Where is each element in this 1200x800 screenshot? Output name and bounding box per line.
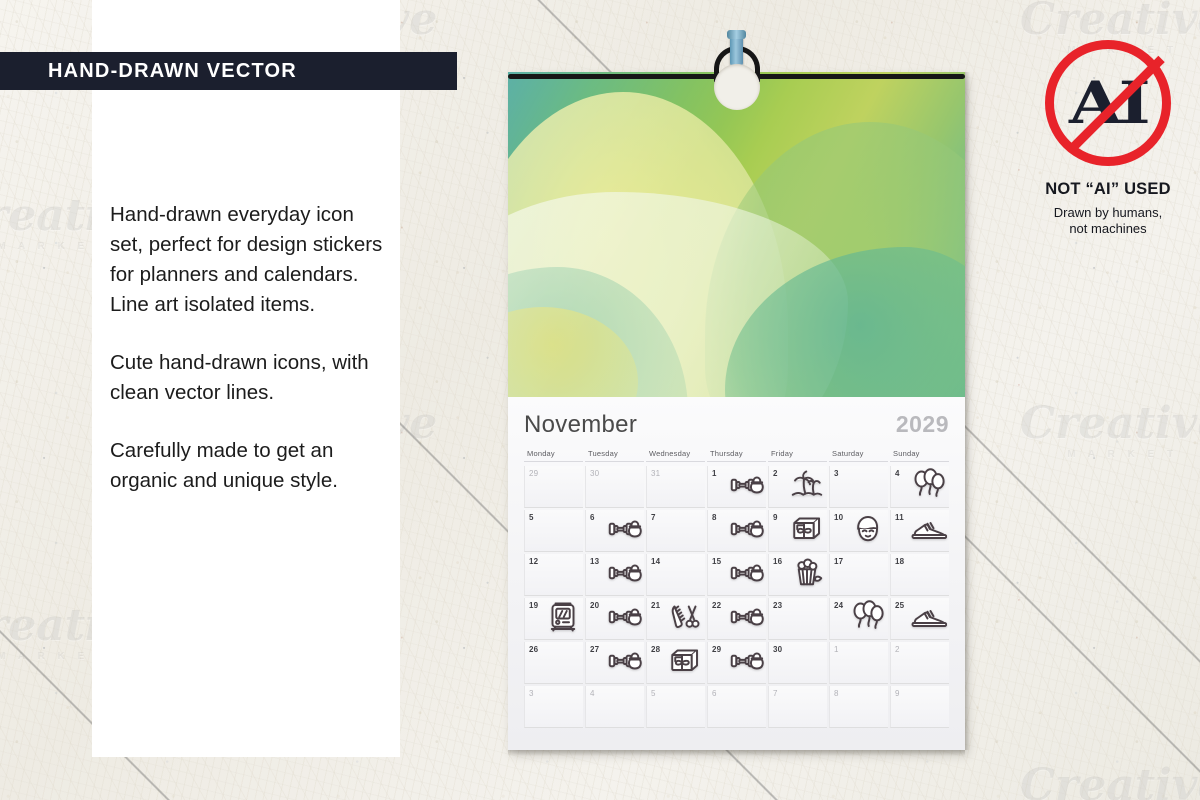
calendar-day-cell[interactable]: 4 [585,686,644,728]
weekday-header-friday: Friday [768,449,827,462]
calendar-day-cell[interactable]: 28 [646,642,705,684]
calendar-day-cell[interactable]: 29 [707,642,766,684]
no-ai-title: NOT “AI” USED [1028,180,1188,199]
calendar-day-cell[interactable]: 6 [585,510,644,552]
day-number: 12 [529,557,538,566]
hand-drawn-vector-banner: HAND-DRAWN VECTOR [0,52,457,90]
balloons-icon [911,468,947,502]
calendar-day-cell[interactable]: 22 [707,598,766,640]
day-number: 3 [834,469,839,478]
day-number: 31 [651,469,660,478]
day-number: 28 [651,645,660,654]
calendar-day-cell[interactable]: 11 [890,510,949,552]
comb-scissors-icon [667,600,703,634]
calendar-day-cell[interactable]: 24 [829,598,888,640]
day-number: 19 [529,601,538,610]
day-number: 25 [895,601,904,610]
wall-calendar: November 2029 MondayTuesdayWednesdayThur… [508,72,965,750]
day-number: 5 [651,689,656,698]
calendar-day-cell[interactable]: 8 [829,686,888,728]
calendar-day-cell[interactable]: 8 [707,510,766,552]
calendar-cover-art [508,72,965,397]
weekday-header-thursday: Thursday [707,449,766,462]
calendar-day-cell[interactable]: 1 [707,466,766,508]
day-number: 22 [712,601,721,610]
day-number: 14 [651,557,660,566]
day-number: 4 [590,689,595,698]
dumbbell-kettlebell-icon [606,512,642,546]
day-number: 20 [590,601,599,610]
day-number: 2 [773,469,778,478]
palm-island-icon [789,468,825,502]
calendar-bottom-shadow [508,750,965,756]
calendar-title-row: November 2029 [524,411,949,439]
calendar-day-cell[interactable]: 9 [768,510,827,552]
balloons-icon [850,600,886,634]
calendar-day-cell[interactable]: 18 [890,554,949,596]
tram-icon [545,600,581,634]
description-paragraph-3: Carefully made to get an organic and uni… [110,436,390,496]
calendar-day-cell[interactable]: 7 [646,510,705,552]
day-number: 2 [895,645,900,654]
calendar-day-cell[interactable]: 30 [585,466,644,508]
weekday-header-wednesday: Wednesday [646,449,705,462]
day-number: 26 [529,645,538,654]
day-number: 23 [773,601,782,610]
calendar-day-cell[interactable]: 15 [707,554,766,596]
day-number: 4 [895,469,900,478]
day-number: 7 [773,689,778,698]
dumbbell-kettlebell-icon [606,600,642,634]
calendar-day-cell[interactable]: 3 [829,466,888,508]
day-number: 6 [712,689,717,698]
weekday-header-sunday: Sunday [890,449,949,462]
calendar-day-cell[interactable]: 5 [524,510,583,552]
calendar-day-cell[interactable]: 6 [707,686,766,728]
dumbbell-kettlebell-icon [728,468,764,502]
weekday-header-monday: Monday [524,449,583,462]
dumbbell-kettlebell-icon [728,644,764,678]
calendar-day-cell[interactable]: 3 [524,686,583,728]
calendar-day-grid: 2930311 2 34 [524,466,949,728]
popcorn-icon [789,556,825,590]
calendar-day-cell[interactable]: 20 [585,598,644,640]
no-ai-prohibition-icon: AI [1045,40,1171,166]
calendar-day-cell[interactable]: 2 [890,642,949,684]
gift-box-icon [789,512,825,546]
description-copy: Hand-drawn everyday icon set, perfect fo… [110,200,390,496]
description-paragraph-2: Cute hand-drawn icons, with clean vector… [110,348,390,408]
calendar-day-cell[interactable]: 27 [585,642,644,684]
calendar-day-cell[interactable]: 1 [829,642,888,684]
no-ai-subtitle: Drawn by humans,not machines [1028,205,1188,237]
calendar-day-cell[interactable]: 5 [646,686,705,728]
dumbbell-kettlebell-icon [728,556,764,590]
weekday-header-row: MondayTuesdayWednesdayThursdayFridaySatu… [524,449,949,462]
cover-sheen-overlay [508,72,965,397]
hanging-punch-hole [714,64,760,110]
day-number: 3 [529,689,534,698]
calendar-year-label: 2029 [896,411,949,438]
day-number: 8 [712,513,717,522]
calendar-day-cell[interactable]: 10 [829,510,888,552]
calendar-month-label: November [524,411,637,439]
day-number: 24 [834,601,843,610]
calendar-day-cell[interactable]: 2 [768,466,827,508]
calendar-day-cell[interactable]: 21 [646,598,705,640]
hanging-hook-top-icon [727,30,746,39]
day-number: 1 [834,645,839,654]
day-number: 9 [773,513,778,522]
calendar-day-cell[interactable]: 16 [768,554,827,596]
day-number: 29 [712,645,721,654]
calendar-day-cell[interactable]: 12 [524,554,583,596]
calendar-day-cell[interactable]: 4 [890,466,949,508]
weekday-header-saturday: Saturday [829,449,888,462]
day-number: 11 [895,513,904,522]
day-number: 5 [529,513,534,522]
calendar-day-cell[interactable]: 14 [646,554,705,596]
calendar-day-cell[interactable]: 30 [768,642,827,684]
banner-title: HAND-DRAWN VECTOR [48,60,297,83]
weekday-header-tuesday: Tuesday [585,449,644,462]
day-number: 8 [834,689,839,698]
calendar-day-cell[interactable]: 26 [524,642,583,684]
day-number: 29 [529,469,538,478]
calendar-day-cell[interactable]: 7 [768,686,827,728]
day-number: 6 [590,513,595,522]
sneaker-icon [911,512,947,546]
day-number: 17 [834,557,843,566]
day-number: 16 [773,557,782,566]
day-number: 9 [895,689,900,698]
day-number: 10 [834,513,843,522]
calendar-day-cell[interactable]: 29 [524,466,583,508]
calendar-day-cell[interactable]: 31 [646,466,705,508]
dumbbell-kettlebell-icon [606,556,642,590]
calendar-day-cell[interactable]: 25 [890,598,949,640]
face-headwrap-icon [850,512,886,546]
gift-box-icon [667,644,703,678]
no-ai-badge: AI NOT “AI” USED Drawn by humans,not mac… [1028,40,1188,237]
day-number: 7 [651,513,656,522]
calendar-day-cell[interactable]: 17 [829,554,888,596]
dumbbell-kettlebell-icon [728,600,764,634]
day-number: 27 [590,645,599,654]
description-paragraph-1: Hand-drawn everyday icon set, perfect fo… [110,200,390,320]
calendar-day-cell[interactable]: 19 [524,598,583,640]
day-number: 15 [712,557,721,566]
day-number: 1 [712,469,717,478]
dumbbell-kettlebell-icon [728,512,764,546]
dumbbell-kettlebell-icon [606,644,642,678]
sneaker-icon [911,600,947,634]
day-number: 30 [590,469,599,478]
calendar-month-sheet: November 2029 MondayTuesdayWednesdayThur… [508,397,965,750]
day-number: 21 [651,601,660,610]
day-number: 18 [895,557,904,566]
spiral-binding [508,56,965,96]
day-number: 30 [773,645,782,654]
calendar-day-cell[interactable]: 9 [890,686,949,728]
day-number: 13 [590,557,599,566]
calendar-day-cell[interactable]: 13 [585,554,644,596]
calendar-right-shadow [965,72,970,750]
calendar-day-cell[interactable]: 23 [768,598,827,640]
